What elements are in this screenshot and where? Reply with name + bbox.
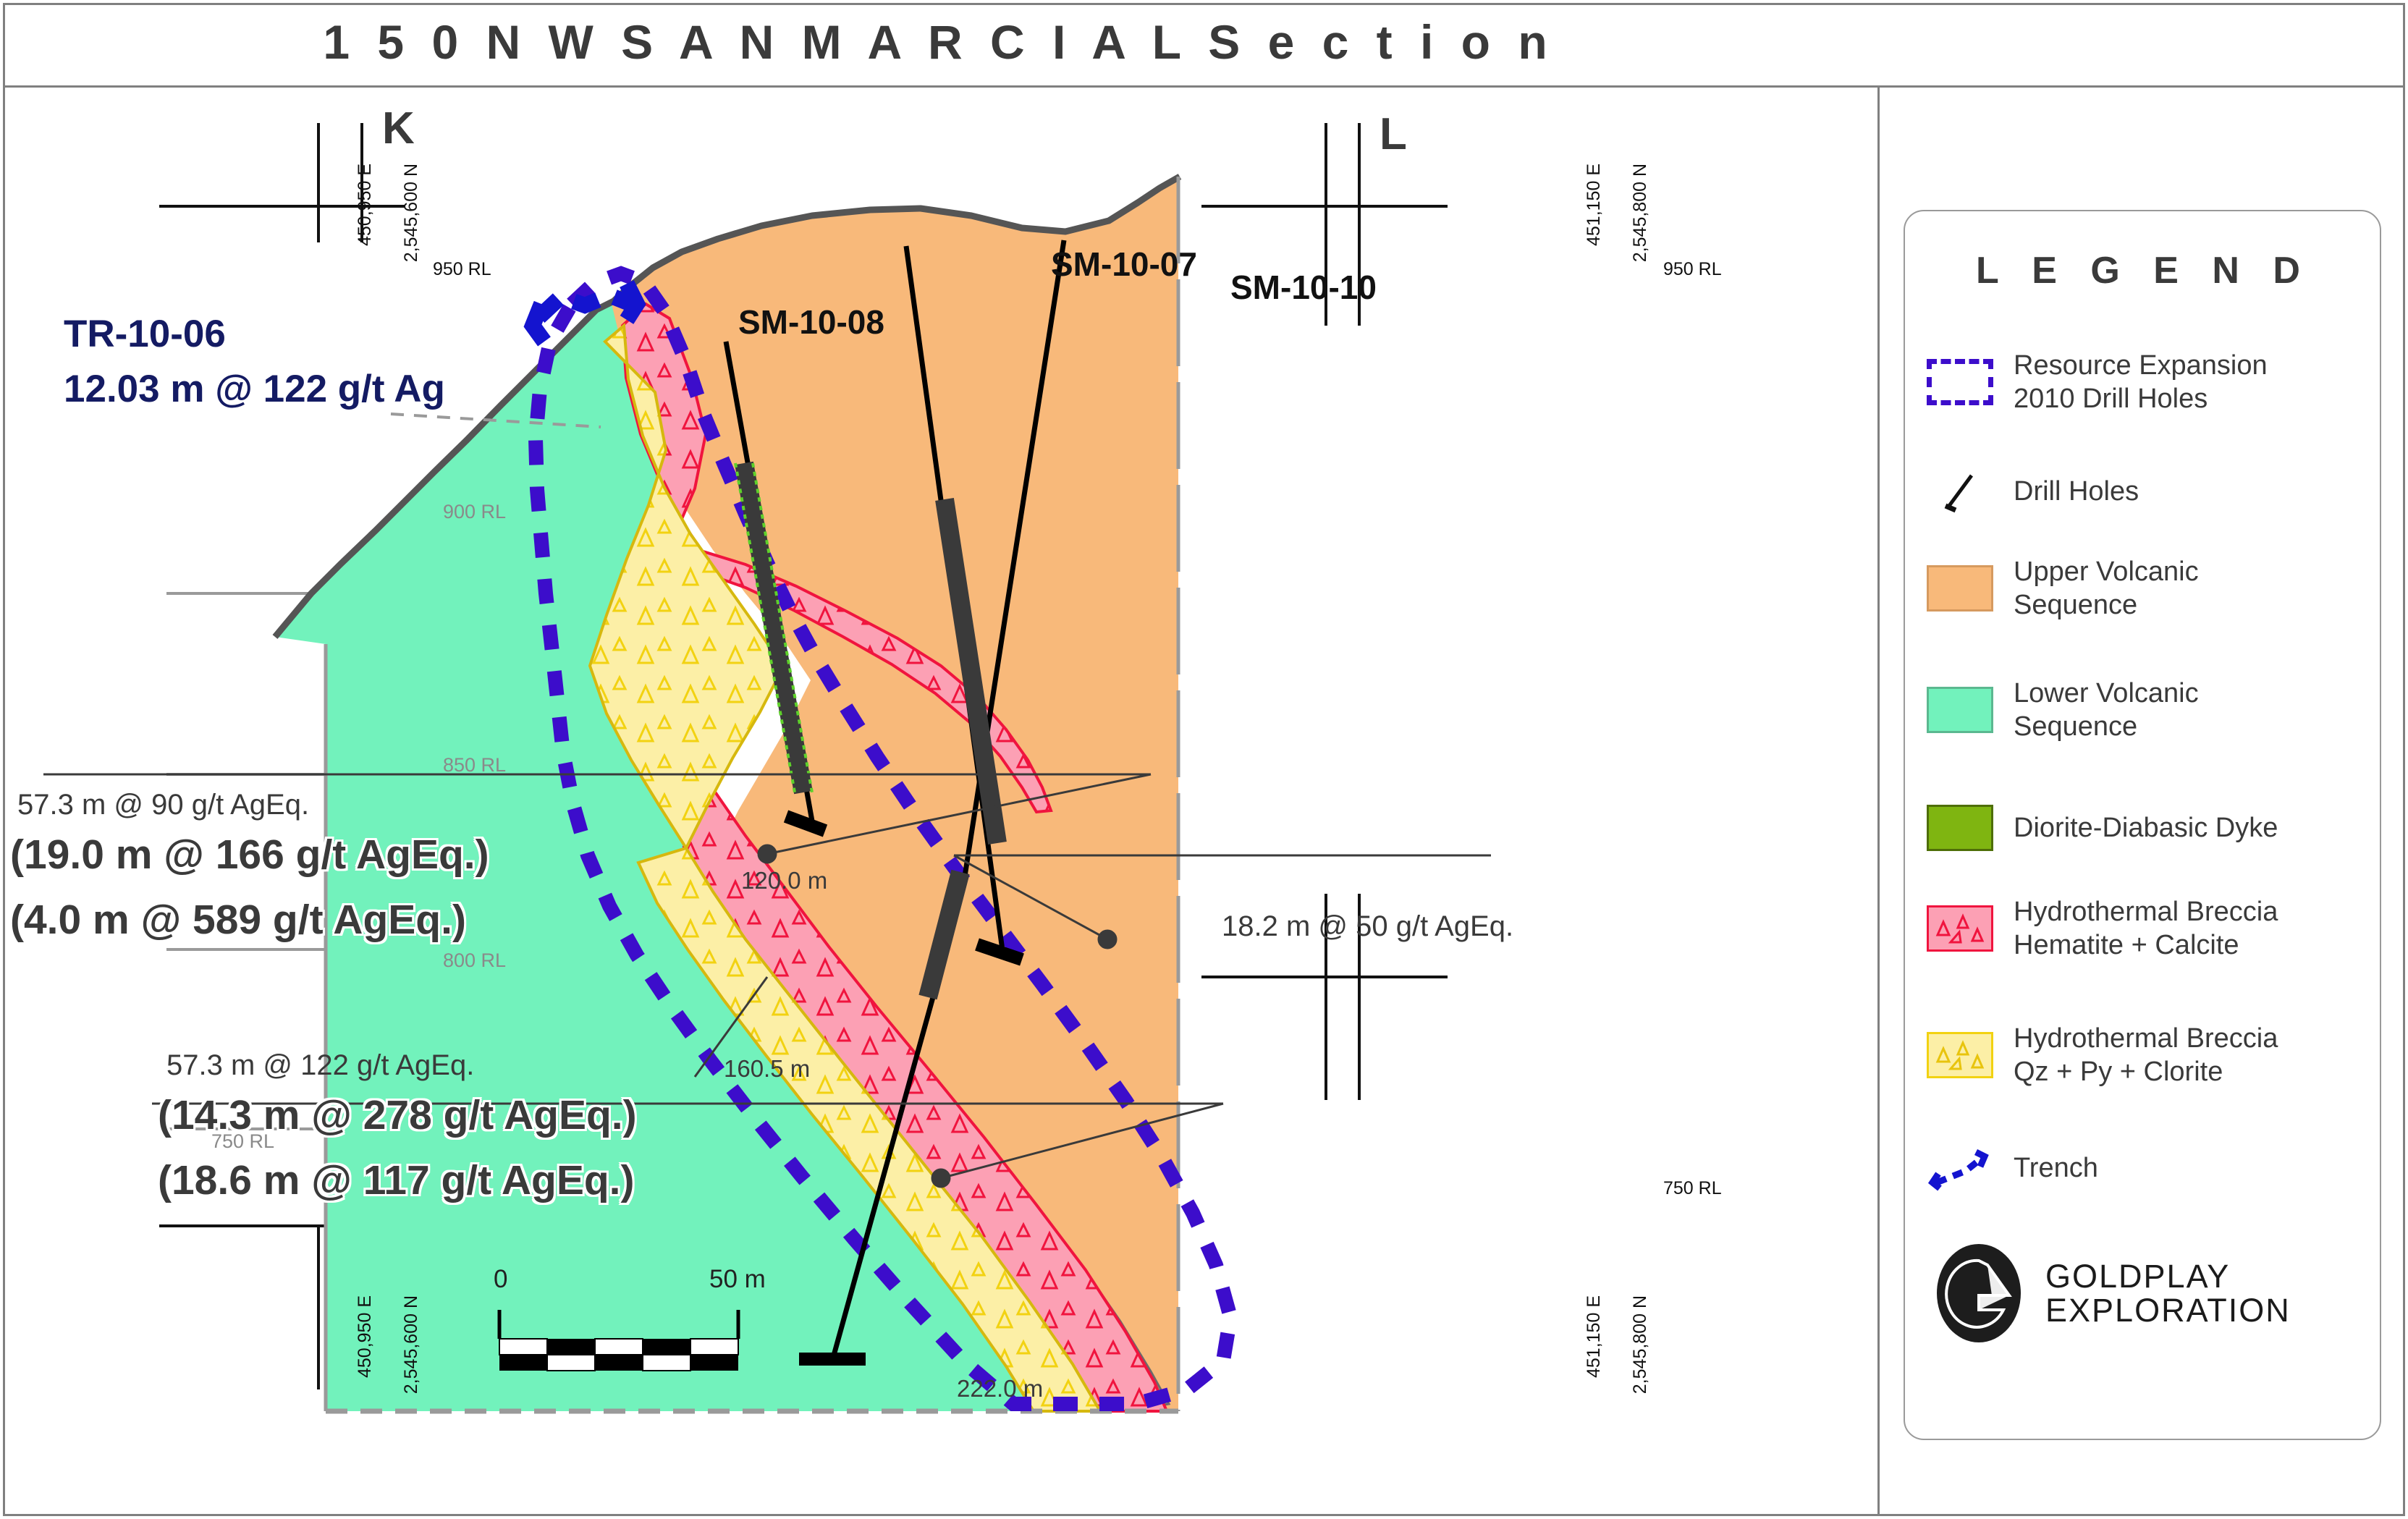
legend-label-breccia-qz: Hydrothermal Breccia Qz + Py + Clorite (2014, 1022, 2278, 1089)
company-logo: GOLDPLAY EXPLORATION (1934, 1239, 2291, 1347)
legend-label-trench: Trench (2014, 1151, 2098, 1185)
annotation-1-line-1: (19.0 m @ 166 g/t AgEq.) (10, 831, 489, 879)
scale-bar-end: 50 m (709, 1265, 766, 1294)
drill-hole-label-sm-10-10: SM-10-10 (1230, 268, 1377, 307)
grid-easting-left-bottom: 450,950 E (355, 1295, 376, 1378)
rl-label-900: 900 RL (443, 501, 506, 523)
legend-item-resource-expansion[interactable]: Resource Expansion 2010 Drill Holes (1927, 349, 2375, 416)
grid-northing-left-bottom: 2,545,600 N (401, 1295, 422, 1394)
annotation-2-line-1: (14.3 m @ 278 g/t AgEq.) (158, 1091, 637, 1140)
legend-item-diorite-dyke[interactable]: Diorite-Diabasic Dyke (1927, 805, 2375, 851)
annotation-1-header: 57.3 m @ 90 g/t AgEq. (17, 789, 309, 821)
grid-easting-right-top: 451,150 E (1584, 164, 1605, 246)
resource-expansion-swatch-icon (1927, 359, 1993, 405)
legend-title: L E G E N D (1905, 249, 2383, 292)
annotation-2-line-2: (18.6 m @ 117 g/t AgEq.) (158, 1156, 634, 1205)
legend-item-lower-volcanic[interactable]: Lower Volcanic Sequence (1927, 677, 2375, 744)
legend-item-upper-volcanic[interactable]: Upper Volcanic Sequence (1927, 555, 2375, 622)
grid-easting-right-bottom: 451,150 E (1584, 1295, 1605, 1378)
annotation-3-header: 18.2 m @ 50 g/t AgEq. (1222, 910, 1513, 943)
grid-easting-left-top: 450,950 E (355, 164, 376, 246)
annotation-2-header: 57.3 m @ 122 g/t AgEq. (166, 1049, 474, 1082)
grid-rl-left-top: 950 RL (433, 259, 491, 280)
legend-item-trench[interactable]: Trench (1927, 1145, 2375, 1191)
legend-divider (1877, 85, 1880, 1515)
logo-line-2: EXPLORATION (2045, 1293, 2291, 1327)
lower-volcanic-swatch-icon (1927, 687, 1993, 733)
legend-item-drill-holes[interactable]: Drill Holes (1927, 468, 2375, 515)
upper-volcanic-swatch-icon (1927, 565, 1993, 612)
diorite-dyke-swatch-icon (1927, 805, 1993, 851)
trench-intercept-label: 12.03 m @ 122 g/t Ag (64, 368, 445, 410)
rl-label-850: 850 RL (443, 754, 506, 777)
trench-swatch-icon (1927, 1145, 1993, 1191)
legend-item-breccia-hematite[interactable]: Hydrothermal Breccia Hematite + Calcite (1927, 895, 2375, 962)
depth-label-120: 120.0 m (741, 867, 827, 894)
scale-bar-start: 0 (494, 1265, 507, 1294)
legend-label-drill-holes: Drill Holes (2014, 475, 2139, 508)
grid-rl-right-top: 950 RL (1663, 259, 1722, 280)
page-title: 1 5 0 N W S A N M A R C I A L S e c t i … (0, 14, 1877, 69)
grid-northing-left-top: 2,545,600 N (401, 164, 422, 262)
trench-name-label: TR-10-06 (64, 313, 226, 355)
grid-northing-right-top: 2,545,800 N (1630, 164, 1651, 262)
section-marker-left: K (382, 103, 415, 154)
drill-hole-label-sm-10-08: SM-10-08 (738, 302, 884, 342)
depth-label-222: 222.0 m (957, 1375, 1043, 1402)
grid-rl-right-bottom: 750 RL (1663, 1178, 1722, 1199)
legend-label-diorite-dyke: Diorite-Diabasic Dyke (2014, 811, 2278, 845)
legend-item-breccia-qz[interactable]: Hydrothermal Breccia Qz + Py + Clorite (1927, 1022, 2375, 1089)
legend-label-breccia-hematite: Hydrothermal Breccia Hematite + Calcite (2014, 895, 2278, 962)
legend-label-resource-expansion: Resource Expansion 2010 Drill Holes (2014, 349, 2268, 416)
grid-northing-right-bottom: 2,545,800 N (1630, 1295, 1651, 1394)
drill-hole-label-sm-10-07: SM-10-07 (1051, 245, 1197, 284)
rl-label-800: 800 RL (443, 949, 506, 972)
breccia-qz-swatch-icon (1927, 1032, 1993, 1078)
legend-panel: L E G E N D Resource Expansion 2010 Dril… (1904, 210, 2381, 1440)
annotation-1-line-2: (4.0 m @ 589 g/t AgEq.) (10, 896, 466, 944)
drill-hole-swatch-icon (1927, 468, 1993, 515)
logo-text: GOLDPLAY EXPLORATION (2045, 1259, 2291, 1328)
legend-label-lower-volcanic: Lower Volcanic Sequence (2014, 677, 2199, 744)
logo-line-1: GOLDPLAY (2045, 1259, 2291, 1293)
depth-label-160: 160.5 m (724, 1055, 810, 1083)
section-marker-right: L (1380, 109, 1407, 160)
goldplay-mark-icon (1934, 1239, 2029, 1347)
legend-label-upper-volcanic: Upper Volcanic Sequence (2014, 555, 2199, 622)
breccia-hematite-swatch-icon (1927, 905, 1993, 952)
